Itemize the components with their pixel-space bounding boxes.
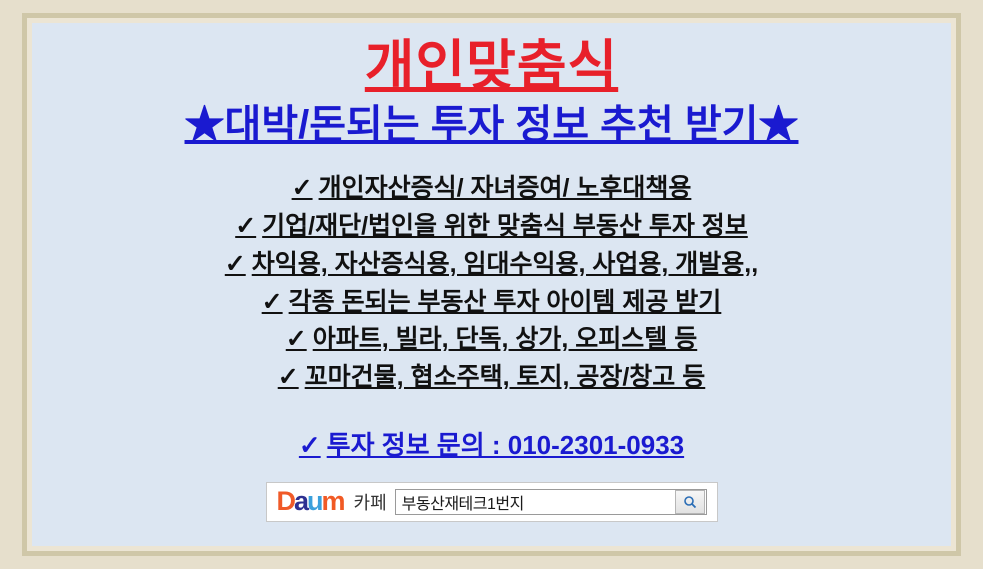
search-icon[interactable]: [675, 490, 705, 514]
bullet-item: ✓차익용, 자산증식용, 임대수익용, 사업용, 개발용,,: [225, 248, 758, 282]
check-icon: ✓: [292, 174, 313, 202]
bullet-text: 개인자산증식/ 자녀증여/ 노후대책용: [319, 174, 692, 202]
poster-image: 개인맞춤식 ★대박/돈되는 투자 정보 추천 받기★ ✓개인자산증식/ 자녀증여…: [0, 0, 983, 569]
bullet-text: 꼬마건물, 협소주택, 토지, 공장/창고 등: [305, 363, 706, 391]
content-panel: 개인맞춤식 ★대박/돈되는 투자 정보 추천 받기★ ✓개인자산증식/ 자녀증여…: [32, 23, 951, 546]
cafe-label: 카페: [354, 489, 387, 515]
bullet-item: ✓아파트, 빌라, 단독, 상가, 오피스텔 등: [286, 323, 697, 357]
daum-logo-letter: m: [322, 488, 344, 515]
bullet-item: ✓개인자산증식/ 자녀증여/ 노후대책용: [292, 172, 692, 206]
cafe-search-field[interactable]: 부동산재테크1번지: [395, 489, 707, 515]
title-subtitle: ★대박/돈되는 투자 정보 추천 받기★: [185, 102, 799, 148]
bullet-item: ✓각종 돈되는 부동산 투자 아이템 제공 받기: [262, 286, 722, 320]
contact-text: 투자 정보 문의 : 010-2301-0933: [327, 430, 684, 460]
check-icon: ✓: [299, 430, 321, 460]
check-icon: ✓: [225, 250, 246, 278]
check-icon: ✓: [278, 363, 299, 391]
check-icon: ✓: [262, 288, 283, 316]
cafe-search-value: 부동산재테크1번지: [402, 490, 524, 514]
bullet-text: 기업/재단/법인을 위한 맞춤식 부동산 투자 정보: [262, 212, 748, 240]
bullet-item: ✓기업/재단/법인을 위한 맞춤식 부동산 투자 정보: [235, 210, 748, 244]
daum-logo-letter: D: [277, 488, 295, 515]
title-main: 개인맞춤식: [365, 37, 618, 96]
check-icon: ✓: [286, 325, 307, 353]
daum-logo-letter: a: [294, 488, 307, 515]
contact-line: ✓투자 정보 문의 : 010-2301-0933: [299, 425, 684, 462]
daum-logo-letter: u: [307, 488, 322, 515]
daum-logo: Daum: [277, 488, 344, 515]
bullet-text: 아파트, 빌라, 단독, 상가, 오피스텔 등: [313, 325, 698, 353]
bullet-text: 차익용, 자산증식용, 임대수익용, 사업용, 개발용,,: [252, 250, 758, 278]
bullet-item: ✓꼬마건물, 협소주택, 토지, 공장/창고 등: [278, 361, 706, 395]
bullet-list: ✓개인자산증식/ 자녀증여/ 노후대책용 ✓기업/재단/법인을 위한 맞춤식 부…: [225, 172, 758, 395]
inner-frame-border: 개인맞춤식 ★대박/돈되는 투자 정보 추천 받기★ ✓개인자산증식/ 자녀증여…: [22, 13, 961, 556]
check-icon: ✓: [235, 212, 256, 240]
daum-cafe-search-bar: Daum 카페 부동산재테크1번지: [266, 482, 718, 522]
bullet-text: 각종 돈되는 부동산 투자 아이템 제공 받기: [289, 288, 722, 316]
